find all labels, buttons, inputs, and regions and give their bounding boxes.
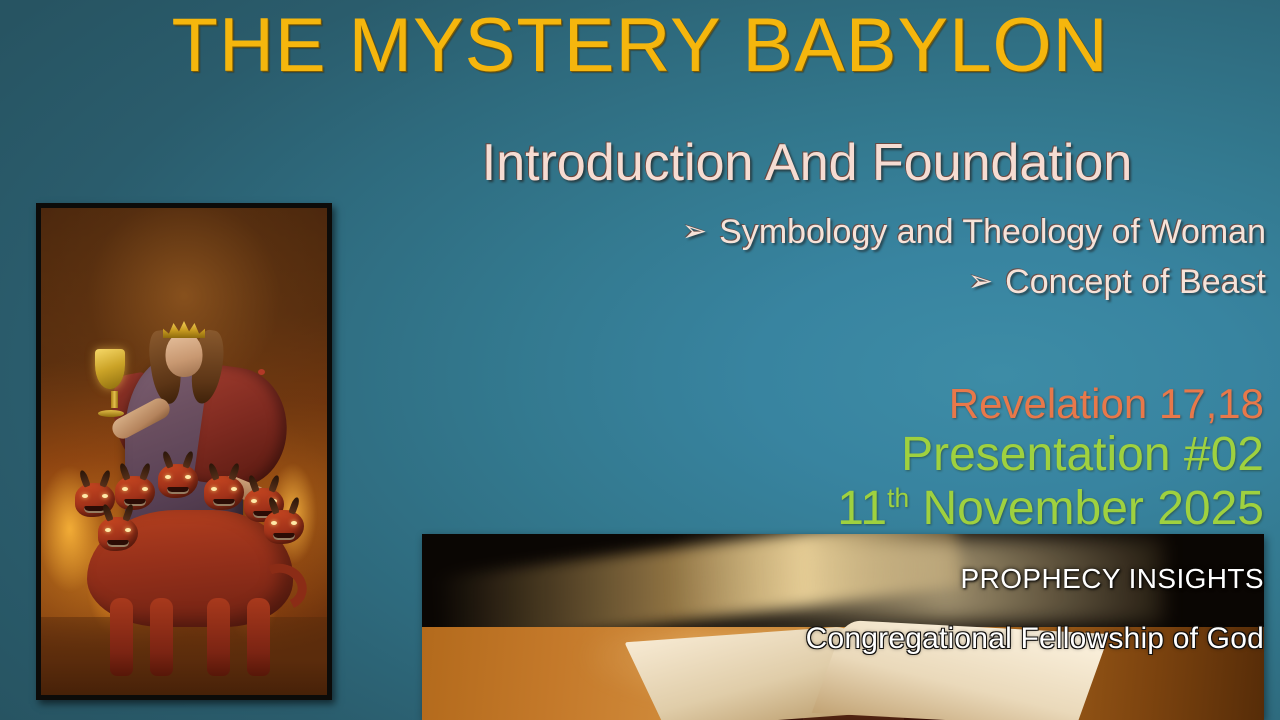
beast-leg bbox=[150, 598, 173, 676]
beast-eye bbox=[165, 475, 171, 479]
page-title: THE MYSTERY BABYLON bbox=[0, 8, 1280, 84]
beast-mouth bbox=[107, 540, 129, 547]
beast-eye bbox=[231, 487, 237, 491]
beast-eye bbox=[82, 494, 88, 498]
beast-eye bbox=[125, 528, 131, 532]
beast-mouth bbox=[167, 487, 189, 494]
woman-head bbox=[166, 332, 203, 377]
bullet-item-beast: ➢Concept of Beast bbox=[968, 264, 1266, 301]
beast-eye bbox=[291, 521, 297, 525]
beast-eye bbox=[102, 494, 108, 498]
beast-eye bbox=[105, 528, 111, 532]
beast-mouth bbox=[213, 499, 235, 506]
reference-block: Revelation 17,18 Presentation #02 11th N… bbox=[837, 382, 1264, 536]
beast-eye bbox=[122, 487, 128, 491]
bullet-arrow-icon: ➢ bbox=[682, 215, 707, 248]
presentation-date: 11th November 2025 bbox=[837, 482, 1264, 536]
brand-subtitle: Congregational Fellowship of God bbox=[806, 622, 1264, 656]
beast-leg bbox=[247, 598, 270, 676]
beast-mouth bbox=[273, 533, 295, 540]
brand-title: PROPHECY INSIGHTS bbox=[961, 563, 1264, 595]
bullet-label: Symbology and Theology of Woman bbox=[719, 213, 1266, 251]
beast-eye bbox=[271, 521, 277, 525]
beast-eye bbox=[211, 487, 217, 491]
cup-stem bbox=[111, 391, 118, 408]
bullet-arrow-icon: ➢ bbox=[968, 265, 993, 298]
woman-on-beast-painting bbox=[36, 203, 332, 700]
presentation-slide: THE MYSTERY BABYLON Introduction And Fou… bbox=[0, 0, 1280, 720]
slide-subtitle: Introduction And Foundation bbox=[342, 136, 1272, 191]
beast-leg bbox=[207, 598, 230, 676]
date-ordinal-suffix: th bbox=[887, 483, 909, 513]
presentation-number: Presentation #02 bbox=[837, 428, 1264, 482]
beast-eye bbox=[142, 487, 148, 491]
scripture-reference: Revelation 17,18 bbox=[837, 382, 1264, 426]
beast-leg bbox=[110, 598, 133, 676]
ground-layer bbox=[41, 617, 327, 695]
beast-eye bbox=[251, 499, 257, 503]
bullet-item-symbology: ➢Symbology and Theology of Woman bbox=[682, 214, 1266, 251]
date-month-year: November 2025 bbox=[909, 482, 1264, 535]
bullet-label: Concept of Beast bbox=[1005, 263, 1266, 301]
date-day: 11 bbox=[837, 482, 887, 535]
beast-eye bbox=[185, 475, 191, 479]
